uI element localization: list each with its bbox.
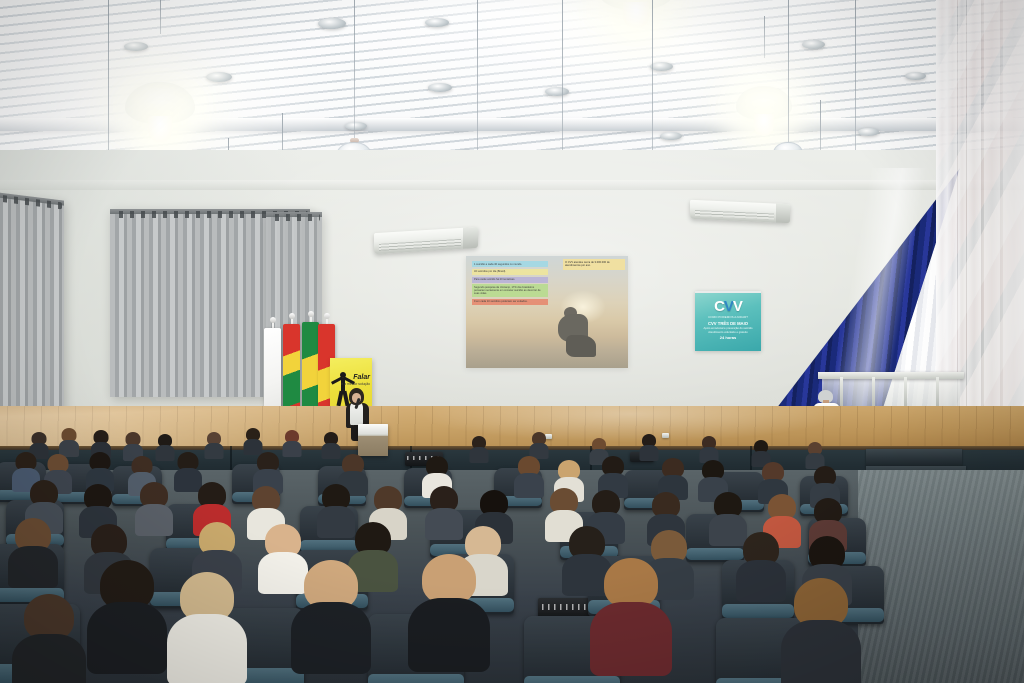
audience-member (96, 560, 158, 670)
cvv-line-2: Atendimento voluntário e gratuito (695, 331, 761, 334)
cvv-logo-c: C (714, 298, 724, 315)
cvv-tagline: COMO PODEMOS AJUDAR? (695, 316, 761, 320)
cvv-hours: 24 horas (695, 335, 761, 340)
audience-member (640, 434, 657, 458)
slide-silhouette-figure (558, 305, 600, 361)
banner-hanging-bar (695, 291, 761, 293)
audience-member (806, 442, 823, 466)
audience-member (600, 456, 626, 494)
audience-member (660, 458, 686, 496)
slide-block: 32 suicídios por dia (Brasil). (472, 269, 548, 275)
window-curtain-left[interactable] (0, 192, 64, 433)
slide-corner-note: O CVV atendeu cerca de 3.000.000 de aten… (563, 259, 625, 270)
cvv-line-1: Apoio emocional e prevenção do suicídio (695, 327, 761, 330)
projection-screen: O CVV atendeu cerca de 3.000.000 de aten… (466, 256, 628, 368)
audience-member (600, 558, 662, 674)
audience-member (740, 532, 782, 598)
table-leg (872, 377, 875, 407)
audience-member (12, 518, 54, 584)
recessed-light-icon (428, 83, 452, 92)
audience-member (205, 432, 222, 456)
audience-member (700, 436, 717, 460)
audience-member (752, 440, 769, 464)
slide-block: 1 suicídio a cada 40 segundos no mundo. (472, 261, 548, 267)
audience-member (88, 452, 112, 488)
table-leg (904, 377, 907, 407)
audience-member (244, 428, 261, 452)
rollup-subtitle: é a melhor solução (341, 382, 370, 386)
audience-member (20, 594, 78, 683)
recessed-light-icon (802, 40, 825, 49)
cvv-org-name: CVV TRÊS DE MAIO (695, 321, 761, 326)
audience-member (516, 456, 542, 494)
pendant-light-on (733, 66, 795, 148)
recessed-light-icon (858, 128, 879, 136)
slide-text-blocks: 1 suicídio a cada 40 segundos no mundo. … (472, 261, 548, 307)
audience-member (283, 430, 300, 454)
rollup-title: Falar (353, 374, 370, 381)
recessed-light-icon (425, 18, 449, 27)
recessed-light-icon (124, 42, 148, 51)
slide-block: Segundo pesquisa da Unicamp, 17% dos bra… (472, 284, 548, 297)
audience-member (530, 432, 547, 456)
cvv-logo-v2: V (733, 298, 742, 315)
recessed-light-icon (318, 18, 346, 29)
pendant-light-on (122, 56, 198, 152)
pendant-light-on (596, 0, 676, 34)
audience-member (320, 484, 352, 534)
recessed-light-icon (545, 87, 569, 96)
audience-member (176, 572, 238, 682)
audience-member (60, 428, 78, 454)
audience-member (138, 482, 170, 532)
slide-block: Para cada suicídio há 20 tentativas. (472, 277, 548, 283)
audience-member (470, 436, 487, 460)
recessed-light-icon (206, 72, 232, 82)
audience-member (262, 524, 304, 590)
cvv-logo: CVV (695, 299, 761, 314)
audience-member (322, 432, 339, 456)
audience-member (124, 432, 142, 458)
cvv-wall-banner: CVV COMO PODEMOS AJUDAR? CVV TRÊS DE MAI… (695, 291, 761, 351)
audience-member (300, 560, 362, 670)
recessed-light-icon (345, 122, 367, 130)
audience-member (418, 554, 480, 670)
audience-member (428, 486, 460, 536)
recessed-light-icon (660, 132, 682, 140)
audience-member (156, 434, 173, 458)
audience-member (255, 452, 281, 490)
auditorium-scene: O CVV atendeu cerca de 3.000.000 de aten… (0, 0, 1024, 683)
audience (0, 418, 900, 683)
slide-block: 9 em cada 10 suicídios poderiam ser evit… (472, 299, 548, 305)
cvv-logo-v1: V (724, 298, 733, 315)
table-leg (936, 377, 939, 407)
recessed-light-icon (905, 72, 926, 80)
recessed-light-icon (650, 62, 673, 71)
audience-member (790, 578, 852, 683)
